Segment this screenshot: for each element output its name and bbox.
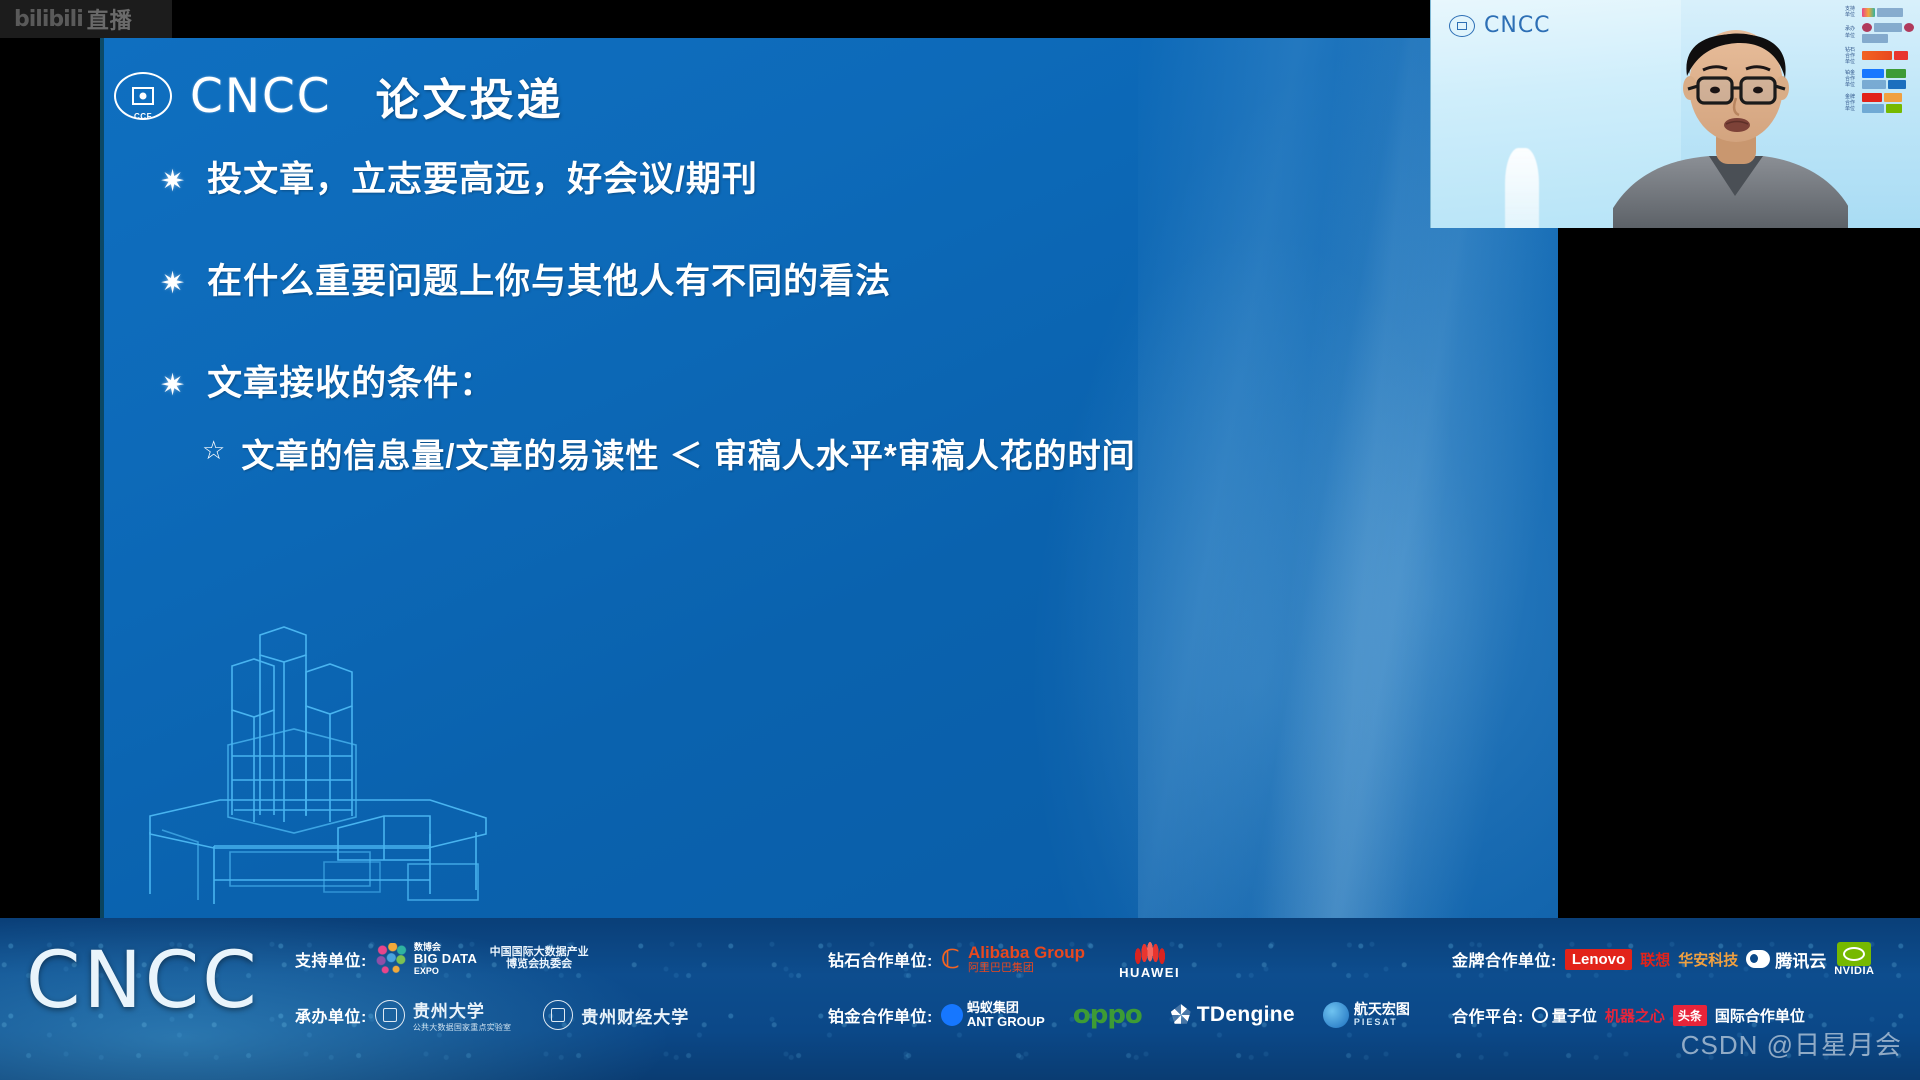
alibaba-en: Alibaba Group [968,943,1085,962]
expo-committee-label: 中国国际大数据产业博览会执委会 [485,947,593,970]
camera-sponsor-label: 支持单位 [1845,6,1859,19]
ant-group-logo-icon: 蚂蚁集团 ANT GROUP [941,1001,1045,1030]
bde-en: BIG DATA [414,952,477,967]
camera-sponsor-label: 金牌合作单位 [1845,94,1859,113]
slide-bullet-list: ✷ 投文章，立志要高远，好会议/期刊 ✷ 在什么重要问题上你与其他人有不同的看法… [160,158,1490,477]
ant-cn: 蚂蚁集团 [967,1000,1019,1015]
camera-sponsor-label: 承办单位 [1845,26,1859,39]
huaan-logo-icon: 华安科技 [1678,949,1738,970]
alibaba-cn: 阿里巴巴集团 [968,963,1085,975]
guizhou-university-lab: 公共大数据国家重点实验室 [413,1022,511,1033]
sponsor-group-support: 支持单位: 数博会 BIG DATA EXPO 中国国际大数据产业博览会执委会 … [295,934,689,1040]
sub-bullet-text: 文章的信息量/文章的易读性 ＜ 审稿人水平*审稿人花的时间 [241,429,1135,477]
qbitai-cn: 量子位 [1552,1005,1597,1026]
sponsor-group-diamond-platinum: 钻石合作单位: ℂ Alibaba Group 阿里巴巴集团 HUAWEI 铂金… [828,934,1410,1040]
sponsor-row: 钻石合作单位: ℂ Alibaba Group 阿里巴巴集团 HUAWEI [828,934,1410,984]
big-data-expo-logo-icon: 数博会 BIG DATA EXPO [375,942,477,977]
sponsor-row: 合作平台: 量子位 机器之心 头条 国际合作单位 [1452,990,1875,1040]
alibaba-logo-icon: ℂ [941,949,960,970]
lenovo-logo-icon: Lenovo [1565,949,1632,970]
camera-sponsor-label: 铂金合作单位 [1845,70,1859,89]
guizhou-finance-university-seal-icon [543,1000,573,1030]
page-title: 论文投递 [376,64,564,128]
bullet-text: 文章接收的条件： [207,362,495,406]
nvidia-en: NVIDIA [1834,966,1874,977]
bullet-marker-icon: ✷ [160,362,185,405]
sponsor-row: 支持单位: 数博会 BIG DATA EXPO 中国国际大数据产业博览会执委会 [295,934,689,984]
ccf-mark-label: CCF [134,112,152,121]
piesat-logo-icon: 航天宏图 PIESAT [1323,1002,1410,1028]
tdengine-en: TDengine [1197,1003,1295,1027]
huawei-logo-icon: HUAWEI [1119,940,1180,979]
camera-sponsor-row: 金牌合作单位 [1845,93,1917,113]
camera-sponsor-row: 钻石合作单位 [1845,47,1917,66]
ccf-logo-icon [1449,15,1475,37]
piesat-cn: 航天宏图 [1354,1001,1410,1017]
huawei-en: HUAWEI [1119,966,1180,979]
sponsor-label: 金牌合作单位: [1452,947,1557,971]
guizhou-university-seal-icon [375,1000,405,1030]
camera-backdrop-tower [1505,148,1539,228]
speaker-camera-overlay[interactable]: CNCC [1430,0,1920,228]
tencent-cloud-cn: 腾讯云 [1775,947,1826,972]
slide-left-edge [100,38,104,918]
oppo-logo-icon: oppo [1073,1000,1142,1030]
camera-sponsor-label: 钻石合作单位 [1845,47,1859,66]
sponsor-label: 钻石合作单位: [828,947,933,971]
sponsor-label: 合作平台: [1452,1003,1524,1027]
stream-viewport: bilibili 直播 CCF CNCC 论文投递 ✷ 投文章，立志要高远，好会… [0,0,1920,1080]
intl-partner-label: 国际合作单位 [1715,1005,1805,1026]
sponsor-row: 承办单位: 贵州大学 公共大数据国家重点实验室 贵州财经大学 [295,990,689,1040]
presentation-slide: CCF CNCC 论文投递 ✷ 投文章，立志要高远，好会议/期刊 ✷ 在什么重要… [100,38,1558,918]
lenovo-cn: 联想 [1640,949,1670,970]
banner-wordmark: CNCC [26,936,260,1026]
camera-sponsor-row: 铂金合作单位 [1845,69,1917,89]
bilibili-watermark: bilibili 直播 [0,0,172,38]
bilibili-logo: bilibili [14,7,83,32]
guizhou-finance-university-name: 贵州财经大学 [581,1003,689,1028]
slide-header: CCF CNCC 论文投递 [114,64,564,128]
camera-brand: CNCC [1449,13,1551,38]
piesat-en: PIESAT [1354,1018,1410,1028]
bullet-text: 投文章，立志要高远，好会议/期刊 [207,158,758,202]
bullet-marker-icon: ✷ [160,158,185,201]
sponsor-banner: CNCC 支持单位: 数博会 BIG DATA EXPO 中国国际大数据产业博览… [0,918,1920,1080]
camera-brand-label: CNCC [1484,13,1551,38]
tdengine-logo-icon: TDengine [1170,1003,1295,1027]
bullet-marker-icon: ✷ [160,260,185,303]
bullet-item: ✷ 在什么重要问题上你与其他人有不同的看法 [160,260,1490,304]
ccf-logo-icon: CCF [114,72,172,120]
bde-en2: EXPO [414,966,439,976]
toutiao-logo-icon: 头条 [1673,1005,1707,1026]
sponsor-group-gold-platform: 金牌合作单位: Lenovo 联想 华安科技 腾讯云 NVIDIA 合作平台: … [1452,934,1875,1040]
bullet-item: ✷ 投文章，立志要高远，好会议/期刊 [160,158,1490,202]
camera-sponsor-row: 支持单位 [1845,6,1917,19]
speaker-video [1613,0,1848,228]
sponsor-label: 支持单位: [295,947,367,971]
qbitai-logo-icon: 量子位 [1532,1005,1597,1026]
tencent-cloud-logo-icon: 腾讯云 [1746,947,1826,972]
camera-sponsor-strip: 支持单位 承办单位 钻石合作单位 铂金合作单位 金牌合作单位 [1842,0,1920,228]
sub-bullet-item: ☆ 文章的信息量/文章的易读性 ＜ 审稿人水平*审稿人花的时间 [202,429,1490,477]
bullet-text: 在什么重要问题上你与其他人有不同的看法 [207,260,891,304]
sponsor-label: 承办单位: [295,1003,367,1027]
landmark-line-art [110,580,530,910]
sponsor-row: 铂金合作单位: 蚂蚁集团 ANT GROUP oppo TDengine [828,990,1410,1040]
slide-brand: CNCC [190,69,332,124]
camera-sponsor-row: 承办单位 [1845,23,1917,43]
nvidia-logo-icon: NVIDIA [1834,942,1874,977]
sponsor-row: 金牌合作单位: Lenovo 联想 华安科技 腾讯云 NVIDIA [1452,934,1875,984]
guizhou-university-name: 贵州大学 [413,1002,485,1021]
bilibili-live-label: 直播 [87,3,133,35]
star-icon: ☆ [202,429,225,466]
ant-en: ANT GROUP [967,1014,1045,1029]
sponsor-label: 铂金合作单位: [828,1003,933,1027]
partner-red-logo-icon: 机器之心 [1605,1005,1665,1026]
bullet-item: ✷ 文章接收的条件： [160,362,1490,406]
